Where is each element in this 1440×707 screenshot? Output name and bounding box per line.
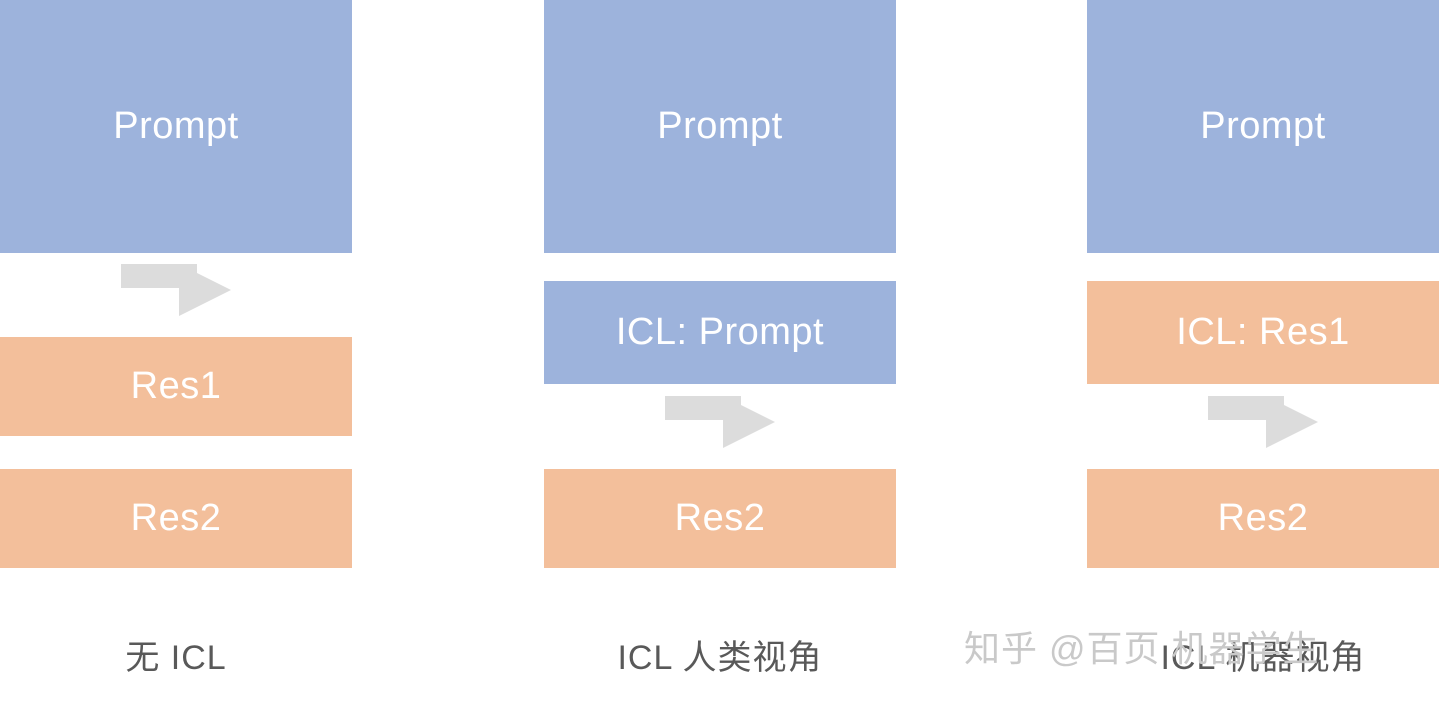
box-prompt: Prompt: [544, 0, 896, 253]
box-res2: Res2: [0, 469, 352, 568]
watermark: 知乎 @百页 机器学生: [964, 620, 1320, 672]
diagram-column-no-icl: Prompt Res1 Res2 无 ICL: [0, 0, 352, 707]
box-icl-prompt: ICL: Prompt: [544, 281, 896, 384]
box-prompt: Prompt: [0, 0, 352, 253]
box-res2: Res2: [544, 469, 896, 568]
diagram-column-icl-machine-view: Prompt ICL: Res1 Res2 ICL 机器视角: [1087, 0, 1439, 707]
box-res1: Res1: [0, 337, 352, 436]
icl-comparison-diagram: Prompt Res1 Res2 无 ICL Prompt ICL: Promp…: [0, 0, 1440, 707]
box-prompt: Prompt: [1087, 0, 1439, 253]
column-caption: 无 ICL: [0, 630, 352, 679]
column-caption: ICL 人类视角: [544, 630, 896, 679]
box-res2: Res2: [1087, 469, 1439, 568]
arrow-down-icon: [121, 264, 231, 316]
diagram-column-icl-human-view: Prompt ICL: Prompt Res2 ICL 人类视角: [544, 0, 896, 707]
box-icl-res1: ICL: Res1: [1087, 281, 1439, 384]
arrow-down-icon: [1208, 396, 1318, 448]
arrow-down-icon: [665, 396, 775, 448]
